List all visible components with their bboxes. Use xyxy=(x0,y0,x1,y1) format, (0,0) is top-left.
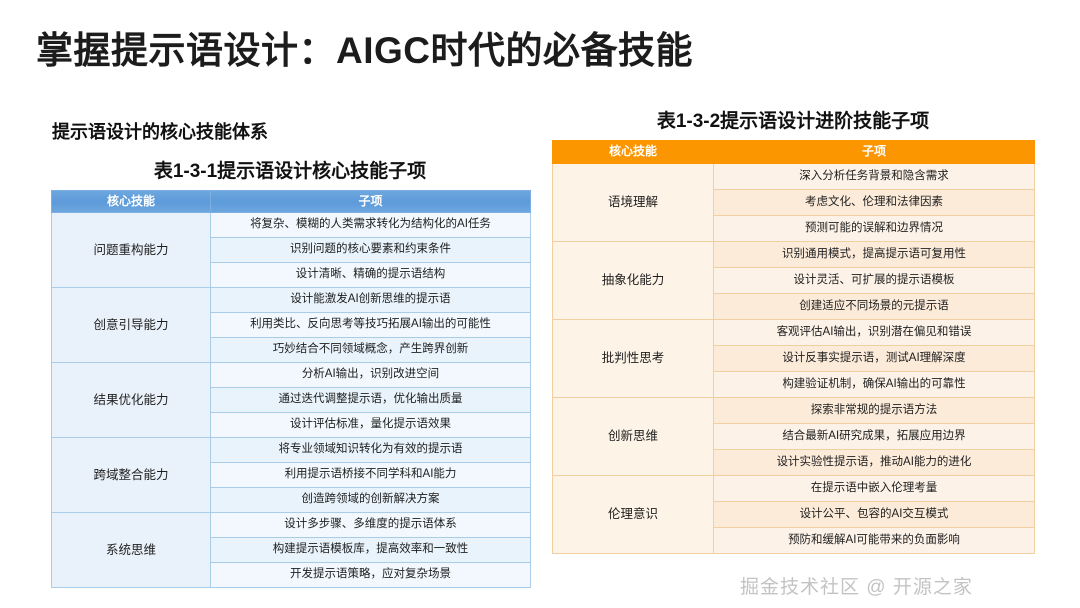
sub-item-cell: 设计多步骤、多维度的提示语体系 xyxy=(211,513,531,538)
sub-item-cell: 通过迭代调整提示语，优化输出质量 xyxy=(211,388,531,413)
column-header-skill: 核心技能 xyxy=(553,141,714,164)
sub-item-cell: 分析AI输出，识别改进空间 xyxy=(211,363,531,388)
table-row: 结果优化能力 分析AI输出，识别改进空间 xyxy=(52,363,531,388)
sub-item-cell: 识别通用模式，提高提示语可复用性 xyxy=(714,242,1035,268)
right-table-caption: 表1-3-2提示语设计进阶技能子项 xyxy=(552,106,1034,133)
column-header-sub: 子项 xyxy=(714,141,1035,164)
sub-item-cell: 创造跨领域的创新解决方案 xyxy=(211,488,531,513)
sub-item-cell: 考虑文化、伦理和法律因素 xyxy=(714,190,1035,216)
sub-item-cell: 设计能激发AI创新思维的提示语 xyxy=(211,288,531,313)
sub-item-cell: 设计反事实提示语，测试AI理解深度 xyxy=(714,346,1035,372)
sub-item-cell: 识别问题的核心要素和约束条件 xyxy=(211,238,531,263)
sub-item-cell: 设计评估标准，量化提示语效果 xyxy=(211,413,531,438)
table-row: 系统思维 设计多步骤、多维度的提示语体系 xyxy=(52,513,531,538)
sub-item-cell: 预测可能的误解和边界情况 xyxy=(714,216,1035,242)
table-row: 创意引导能力 设计能激发AI创新思维的提示语 xyxy=(52,288,531,313)
sub-item-cell: 结合最新AI研究成果，拓展应用边界 xyxy=(714,424,1035,450)
skill-cell: 问题重构能力 xyxy=(52,213,211,288)
sub-item-cell: 创建适应不同场景的元提示语 xyxy=(714,294,1035,320)
column-header-skill: 核心技能 xyxy=(52,191,211,213)
skill-cell: 结果优化能力 xyxy=(52,363,211,438)
skill-cell: 创新思维 xyxy=(553,398,714,476)
skill-cell: 伦理意识 xyxy=(553,476,714,554)
table-row: 跨域整合能力 将专业领域知识转化为有效的提示语 xyxy=(52,438,531,463)
sub-item-cell: 构建提示语模板库，提高效率和一致性 xyxy=(211,538,531,563)
sub-item-cell: 构建验证机制，确保AI输出的可靠性 xyxy=(714,372,1035,398)
table-row: 创新思维 探索非常规的提示语方法 xyxy=(553,398,1035,424)
skill-cell: 创意引导能力 xyxy=(52,288,211,363)
sub-item-cell: 在提示语中嵌入伦理考量 xyxy=(714,476,1035,502)
skill-cell: 系统思维 xyxy=(52,513,211,588)
table-row: 问题重构能力 将复杂、模糊的人类需求转化为结构化的AI任务 xyxy=(52,213,531,238)
sub-item-cell: 开发提示语策略，应对复杂场景 xyxy=(211,563,531,588)
skill-cell: 跨域整合能力 xyxy=(52,438,211,513)
sub-item-cell: 探索非常规的提示语方法 xyxy=(714,398,1035,424)
sub-item-cell: 预防和缓解AI可能带来的负面影响 xyxy=(714,528,1035,554)
sub-item-cell: 设计公平、包容的AI交互模式 xyxy=(714,502,1035,528)
table-header-row: 核心技能 子项 xyxy=(553,141,1035,164)
sub-item-cell: 设计清晰、精确的提示语结构 xyxy=(211,263,531,288)
advanced-skills-table: 核心技能 子项 语境理解 深入分析任务背景和隐含需求 考虑文化、伦理和法律因素 … xyxy=(552,140,1035,554)
advanced-skills-table-body: 语境理解 深入分析任务背景和隐含需求 考虑文化、伦理和法律因素 预测可能的误解和… xyxy=(553,164,1035,554)
sub-item-cell: 利用提示语桥接不同学科和AI能力 xyxy=(211,463,531,488)
skill-cell: 语境理解 xyxy=(553,164,714,242)
core-skills-table: 核心技能 子项 问题重构能力 将复杂、模糊的人类需求转化为结构化的AI任务 识别… xyxy=(51,190,531,588)
table-row: 伦理意识 在提示语中嵌入伦理考量 xyxy=(553,476,1035,502)
sub-item-cell: 设计灵活、可扩展的提示语模板 xyxy=(714,268,1035,294)
sub-item-cell: 将专业领域知识转化为有效的提示语 xyxy=(211,438,531,463)
table-row: 语境理解 深入分析任务背景和隐含需求 xyxy=(553,164,1035,190)
skill-cell: 抽象化能力 xyxy=(553,242,714,320)
table-header-row: 核心技能 子项 xyxy=(52,191,531,213)
page-title: 掌握提示语设计：AIGC时代的必备技能 xyxy=(36,20,693,74)
table-row: 抽象化能力 识别通用模式，提高提示语可复用性 xyxy=(553,242,1035,268)
left-section-heading: 提示语设计的核心技能体系 xyxy=(52,118,268,144)
sub-item-cell: 利用类比、反向思考等技巧拓展AI输出的可能性 xyxy=(211,313,531,338)
slide-canvas: 掌握提示语设计：AIGC时代的必备技能 提示语设计的核心技能体系 表1-3-1提… xyxy=(0,0,1080,608)
core-skills-table-body: 问题重构能力 将复杂、模糊的人类需求转化为结构化的AI任务 识别问题的核心要素和… xyxy=(52,213,531,588)
sub-item-cell: 客观评估AI输出，识别潜在偏见和错误 xyxy=(714,320,1035,346)
left-table-caption: 表1-3-1提示语设计核心技能子项 xyxy=(50,156,530,183)
table-row: 批判性思考 客观评估AI输出，识别潜在偏见和错误 xyxy=(553,320,1035,346)
sub-item-cell: 设计实验性提示语，推动AI能力的进化 xyxy=(714,450,1035,476)
column-header-sub: 子项 xyxy=(211,191,531,213)
sub-item-cell: 巧妙结合不同领域概念，产生跨界创新 xyxy=(211,338,531,363)
sub-item-cell: 深入分析任务背景和隐含需求 xyxy=(714,164,1035,190)
watermark: 掘金技术社区 @ 开源之家 xyxy=(740,572,973,599)
skill-cell: 批判性思考 xyxy=(553,320,714,398)
sub-item-cell: 将复杂、模糊的人类需求转化为结构化的AI任务 xyxy=(211,213,531,238)
